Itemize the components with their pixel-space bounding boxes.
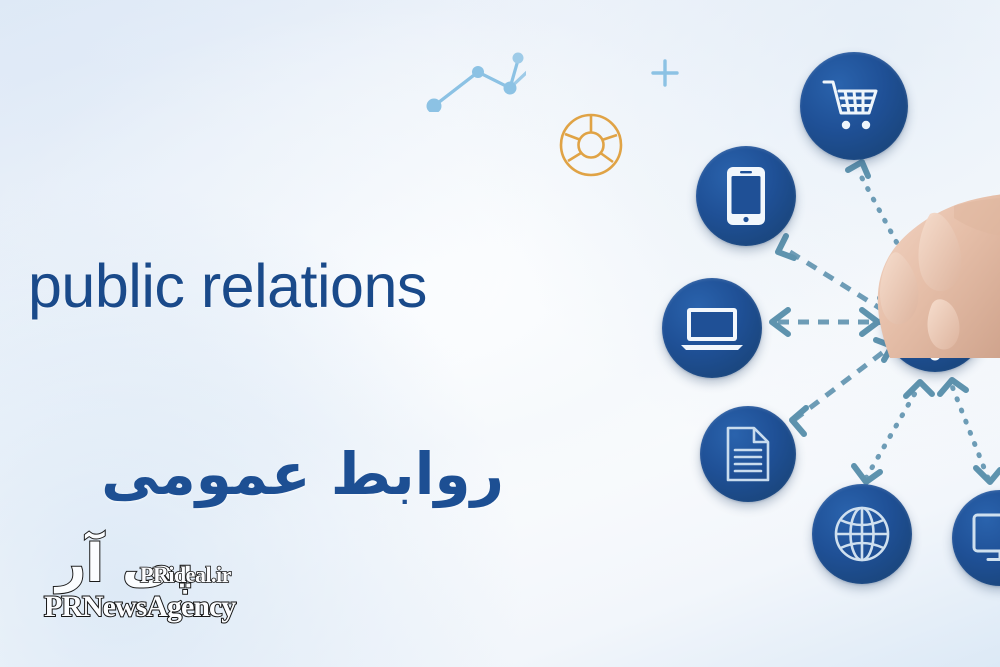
monitor-icon bbox=[952, 490, 1000, 586]
page-title-persian: روابط عمومی bbox=[101, 440, 504, 508]
page-title-english: public relations bbox=[28, 256, 427, 317]
person-icon bbox=[883, 268, 987, 372]
donut-chart-doodle bbox=[554, 108, 628, 187]
watermark-agency: PRNewsAgency bbox=[44, 590, 235, 624]
shopping-cart-icon bbox=[800, 52, 908, 160]
document-icon bbox=[700, 406, 796, 502]
watermark: پی آر PRideal.ir PRNewsAgency bbox=[36, 534, 276, 642]
smartphone-icon bbox=[696, 146, 796, 246]
watermark-site: PRideal.ir bbox=[140, 562, 231, 588]
image-canvas: .dotline{ stroke:#6d9cb6; stroke-width:5… bbox=[0, 0, 1000, 667]
globe-icon bbox=[812, 484, 912, 584]
laptop-icon bbox=[662, 278, 762, 378]
plus-doodle bbox=[650, 58, 680, 93]
line-chart-doodle bbox=[418, 44, 526, 117]
